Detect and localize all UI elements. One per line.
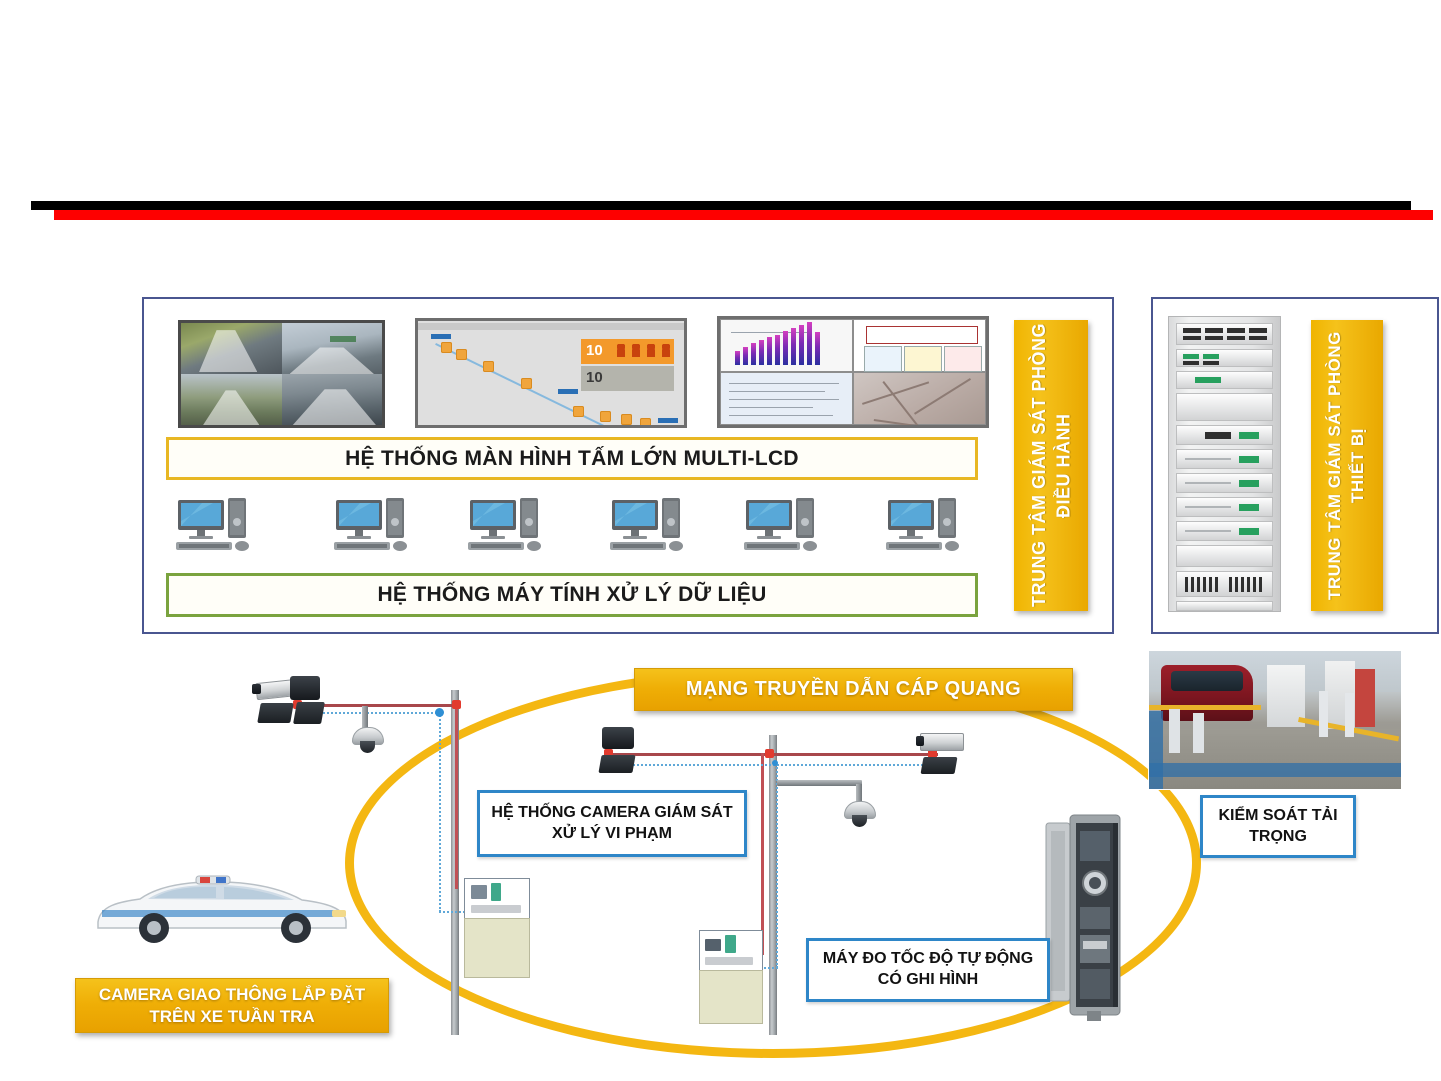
data-dashboard-wall: [717, 316, 989, 428]
speed-device-label-text: MÁY ĐO TỐC ĐỘ TỰ ĐỘNG CÓ GHI HÌNH: [809, 949, 1047, 991]
workstation-caption: HỆ THỐNG MÁY TÍNH XỬ LÝ DỮ LIỆU: [166, 573, 978, 617]
dashboard-table-tile: [720, 372, 853, 425]
fixed-camera-icon: [920, 733, 964, 751]
header-rule-red: [54, 210, 1433, 220]
workstation-caption-text: HỆ THỐNG MÁY TÍNH XỬ LÝ DỮ LIỆU: [377, 583, 766, 607]
gantry-cable-red-drop: [761, 753, 764, 955]
video-wall-caption: HỆ THỐNG MÀN HÌNH TẤM LỚN MULTI-LCD: [166, 437, 978, 480]
enforcement-camera-icon: [290, 676, 320, 700]
workstation-pc: [330, 496, 426, 558]
weight-control-label: KIỂM SOÁT TẢI TRỌNG: [1200, 795, 1356, 858]
speed-device-label: MÁY ĐO TỐC ĐỘ TỰ ĐỘNG CÓ GHI HÌNH: [806, 938, 1050, 1002]
camera-system-label-text: HỆ THỐNG CAMERA GIÁM SÁT XỬ LÝ VI PHẠM: [480, 803, 744, 845]
ptz-cross-arm: [777, 780, 862, 786]
cable-node-red: [452, 700, 461, 709]
roadside-cabinet: [464, 878, 530, 922]
camera-lens-icon: [916, 736, 924, 746]
cctv-tile-3: [181, 374, 282, 425]
roadside-cabinet-base: [699, 970, 763, 1024]
flash-unit-icon: [293, 702, 325, 724]
flash-unit-icon: [257, 703, 294, 723]
ptz-mount-arm: [856, 784, 862, 802]
route-sign-grey: 10: [581, 366, 674, 391]
cctv-quad-wall: [178, 320, 385, 428]
ptz-dome-lens-icon: [360, 741, 375, 753]
cctv-tile-4: [282, 374, 383, 425]
patrol-car: [88, 866, 356, 944]
workstation-pc: [606, 496, 702, 558]
workstation-pc: [464, 496, 560, 558]
equipment-room-banner: TRUNG TÂM GIÁM SÁT PHÒNG THIẾT BỊ: [1311, 320, 1383, 611]
workstation-pc: [172, 496, 268, 558]
gantry-cable-red-drop: [455, 704, 458, 889]
dashboard-network-tile: [853, 372, 986, 425]
flash-unit-icon: [598, 755, 635, 773]
cable-node-blue: [772, 760, 778, 766]
fiber-network-label: MẠNG TRUYỀN DẪN CÁP QUANG: [634, 668, 1073, 711]
weight-control-label-text: KIỂM SOÁT TẢI TRỌNG: [1203, 806, 1353, 848]
fiber-network-label-text: MẠNG TRUYỀN DẪN CÁP QUANG: [686, 677, 1021, 702]
patrol-camera-label-text: CAMERA GIAO THÔNG LẮP ĐẶT TRÊN XE TUẦN T…: [76, 984, 388, 1027]
roadside-cabinet: [699, 930, 763, 974]
cable-node-red: [765, 749, 774, 758]
patrol-camera-label: CAMERA GIAO THÔNG LẮP ĐẶT TRÊN XE TUẦN T…: [75, 978, 389, 1033]
gantry-cable-blue-drop: [776, 764, 778, 968]
dashboard-signs-tile: [853, 319, 986, 372]
route-sign-orange: 10: [581, 339, 674, 364]
video-wall-caption-text: HỆ THỐNG MÀN HÌNH TẤM LỚN MULTI-LCD: [345, 447, 799, 471]
operations-center-banner: TRUNG TÂM GIÁM SÁT PHÒNG ĐIỀU HÀNH: [1014, 320, 1088, 611]
gantry-cable-blue-drop: [439, 712, 441, 912]
server-rack: [1168, 316, 1281, 612]
camera-system-label: HỆ THỐNG CAMERA GIÁM SÁT XỬ LÝ VI PHẠM: [477, 790, 747, 857]
cable-node-blue: [435, 708, 444, 717]
enforcement-camera-icon: [602, 727, 634, 749]
speed-enforcement-cabinet: [1043, 811, 1141, 1021]
equipment-room-banner-text: TRUNG TÂM GIÁM SÁT PHÒNG THIẾT BỊ: [1324, 320, 1370, 611]
cctv-tile-1: [181, 323, 282, 374]
roadside-cabinet-base: [464, 918, 530, 978]
gantry-cable-blue: [610, 764, 930, 766]
workstation-pc: [882, 496, 978, 558]
route-wall-title-bar: [418, 323, 684, 330]
flash-unit-icon: [921, 757, 958, 774]
operations-center-banner-text: TRUNG TÂM GIÁM SÁT PHÒNG ĐIỀU HÀNH: [1027, 320, 1076, 611]
header-rule-black: [31, 201, 1411, 210]
cctv-tile-2: [282, 323, 383, 374]
camera-lens-icon: [252, 684, 261, 694]
weigh-station-photo: [1148, 650, 1402, 790]
route-map-wall: 10 10: [415, 318, 687, 428]
ptz-mount-arm: [362, 706, 368, 728]
dashboard-chart-tile: [720, 319, 853, 372]
workstation-pc: [740, 496, 836, 558]
